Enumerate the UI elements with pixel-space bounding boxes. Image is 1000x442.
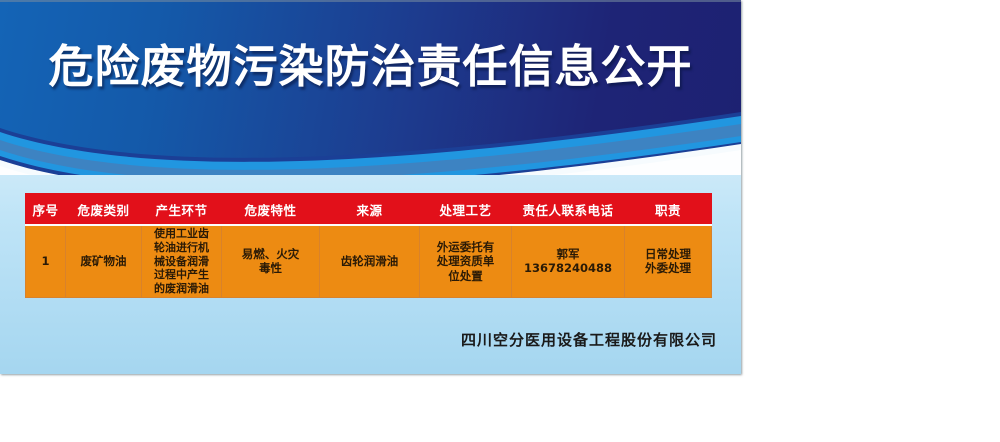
column-header-category: 危废类别: [66, 194, 142, 226]
cell-index: 1: [26, 225, 66, 297]
poster-banner: 危险废物污染防治责任信息公开: [0, 0, 741, 175]
contact-lines: 郭军13678240488: [514, 247, 622, 276]
cell-generation-stage: 使用工业齿轮油进行机械设备润滑过程中产生的废润滑油: [142, 225, 222, 297]
column-header-index: 序号: [26, 194, 66, 226]
cell-category: 废矿物油: [66, 225, 142, 297]
cell-duty: 日常处理外委处理: [625, 225, 712, 297]
table-row: 1 废矿物油 使用工业齿轮油进行机械设备润滑过程中产生的废润滑油 易燃、火灾毒性…: [26, 225, 712, 297]
column-header-hazard-property: 危废特性: [222, 194, 320, 226]
cell-contact-phone: 郭军13678240488: [512, 225, 625, 297]
table-header-row: 序号 危废类别 产生环节 危废特性 来源 处理工艺 责任人联系电话 职责: [26, 194, 712, 226]
treatment-lines: 外运委托有处理资质单位处置: [422, 240, 509, 283]
information-disclosure-poster: 危险废物污染防治责任信息公开 序号 危废类别 产生环节 危废特性 来源 处理工艺…: [0, 0, 741, 374]
company-name-footer: 四川空分医用设备工程股份有限公司: [0, 329, 717, 350]
column-header-treatment: 处理工艺: [420, 194, 512, 226]
cell-source: 齿轮润滑油: [320, 225, 420, 297]
screenshot-canvas: 危险废物污染防治责任信息公开 序号 危废类别 产生环节 危废特性 来源 处理工艺…: [0, 0, 1000, 442]
hazardous-waste-table: 序号 危废类别 产生环节 危废特性 来源 处理工艺 责任人联系电话 职责 1 废…: [25, 193, 712, 298]
column-header-generation-stage: 产生环节: [142, 194, 222, 226]
column-header-duty: 职责: [625, 194, 712, 226]
column-header-contact-phone: 责任人联系电话: [512, 194, 625, 226]
cell-treatment: 外运委托有处理资质单位处置: [420, 225, 512, 297]
generation-stage-lines: 使用工业齿轮油进行机械设备润滑过程中产生的废润滑油: [144, 227, 219, 296]
cell-hazard-property: 易燃、火灾毒性: [222, 225, 320, 297]
hazard-property-lines: 易燃、火灾毒性: [224, 247, 317, 276]
page-title: 危险废物污染防治责任信息公开: [0, 44, 741, 89]
duty-lines: 日常处理外委处理: [627, 247, 709, 276]
column-header-source: 来源: [320, 194, 420, 226]
